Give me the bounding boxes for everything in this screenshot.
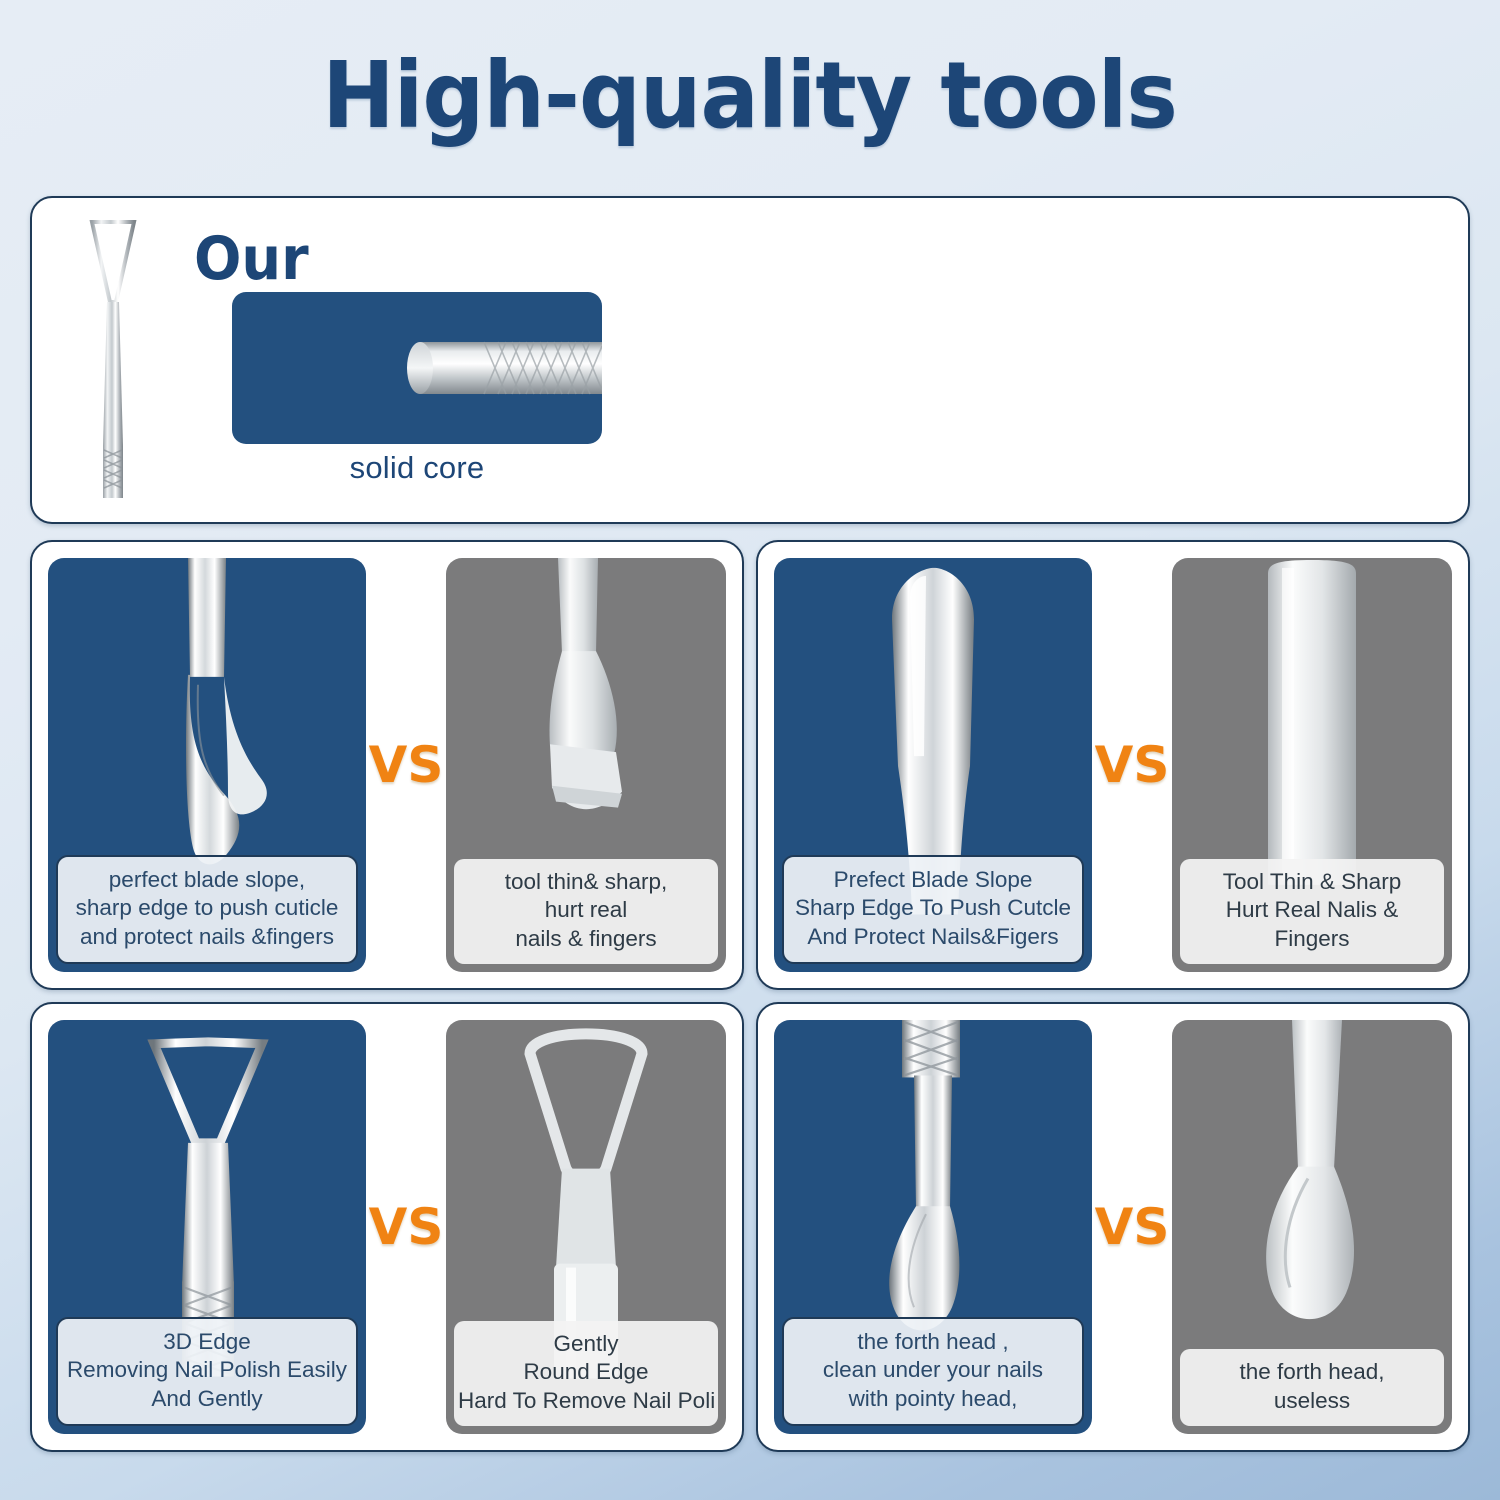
comparison-card-2-others-caption: Tool Thin & Sharp Hurt Real Nalis & Fing… — [1180, 859, 1444, 964]
caption-line: tool thin& sharp, — [458, 868, 714, 897]
title-bar: High-quality tools — [0, 0, 1500, 190]
vs-badge-2: VS — [1092, 558, 1172, 972]
caption-line: Sharp Edge To Push Cutcle — [788, 894, 1078, 923]
blunt-paddle-head-icon: the forth head, useless — [1172, 1020, 1452, 1434]
comparison-card-1-ours-caption: perfect blade slope, sharp edge to push … — [56, 855, 358, 964]
caption-line: Tool Thin & Sharp — [1184, 868, 1440, 897]
vs-badge-4: VS — [1092, 1020, 1172, 1434]
caption-line: clean under your nails — [788, 1356, 1078, 1385]
caption-line: Gently — [458, 1330, 714, 1359]
comparison-card-4: the forth head , clean under your nails … — [756, 1002, 1470, 1452]
caption-line: Hurt Real Nalis & — [1184, 896, 1440, 925]
caption-line: 3D Edge — [62, 1328, 352, 1357]
comparison-grid: perfect blade slope, sharp edge to push … — [30, 540, 1470, 1470]
comparison-card-3: 3D Edge Removing Nail Polish Easily And … — [30, 1002, 744, 1452]
caption-line: Round Edge — [458, 1358, 714, 1387]
comparison-card-4-ours-caption: the forth head , clean under your nails … — [782, 1317, 1084, 1426]
thin-flat-blade-icon: tool thin& sharp, hurt real nails & fing… — [446, 558, 726, 972]
caption-line: Fingers — [1184, 925, 1440, 954]
comparison-card-3-others-caption: Gently Round Edge Hard To Remove Nail Po… — [454, 1321, 718, 1426]
caption-line: sharp edge to push cuticle — [62, 894, 352, 923]
hero-comparison-card: Our — [30, 196, 1470, 524]
pointy-cleaner-head-icon: the forth head , clean under your nails … — [774, 1020, 1092, 1434]
blunt-wide-tip-icon: Tool Thin & Sharp Hurt Real Nalis & Fing… — [1172, 558, 1452, 972]
caption-line: and protect nails &fingers — [62, 923, 352, 952]
rounded-triangle-loop-icon: Gently Round Edge Hard To Remove Nail Po… — [446, 1020, 726, 1434]
caption-line: hurt real — [458, 896, 714, 925]
hero-others-section: Others Hollow — [750, 198, 1468, 522]
triangle-3d-edge-scraper-icon: 3D Edge Removing Nail Polish Easily And … — [48, 1020, 366, 1434]
hero-ours-section: Our — [32, 198, 750, 522]
page-title: High-quality tools — [323, 42, 1178, 149]
hero-ours-heading: Our — [194, 224, 309, 294]
caption-line: with pointy head, — [788, 1385, 1078, 1414]
comparison-card-2: Prefect Blade Slope Sharp Edge To Push C… — [756, 540, 1470, 990]
caption-line: And Gently — [62, 1385, 352, 1414]
triangle-loop-cuticle-tool-icon — [76, 206, 150, 506]
rounded-spoon-pusher-icon: Prefect Blade Slope Sharp Edge To Push C… — [774, 558, 1092, 972]
caption-line: useless — [1184, 1387, 1440, 1416]
comparison-card-1-others-caption: tool thin& sharp, hurt real nails & fing… — [454, 859, 718, 964]
caption-line: nails & fingers — [458, 925, 714, 954]
caption-line: the forth head , — [788, 1328, 1078, 1357]
caption-line: Hard To Remove Nail Poli — [458, 1387, 714, 1416]
caption-line: the forth head, — [1184, 1358, 1440, 1387]
comparison-card-3-ours-caption: 3D Edge Removing Nail Polish Easily And … — [56, 1317, 358, 1426]
caption-line: perfect blade slope, — [62, 866, 352, 895]
solid-core-rod-photo — [232, 292, 602, 444]
caption-line: And Protect Nails&Figers — [788, 923, 1078, 952]
comparison-card-1: perfect blade slope, sharp edge to push … — [30, 540, 744, 990]
caption-line: Removing Nail Polish Easily — [62, 1356, 352, 1385]
hero-ours-caption: solid core — [232, 450, 602, 486]
curved-blade-pusher-icon: perfect blade slope, sharp edge to push … — [48, 558, 366, 972]
vs-badge-1: VS — [366, 558, 446, 972]
comparison-card-4-others-caption: the forth head, useless — [1180, 1349, 1444, 1426]
vs-badge-3: VS — [366, 1020, 446, 1434]
comparison-card-2-ours-caption: Prefect Blade Slope Sharp Edge To Push C… — [782, 855, 1084, 964]
caption-line: Prefect Blade Slope — [788, 866, 1078, 895]
